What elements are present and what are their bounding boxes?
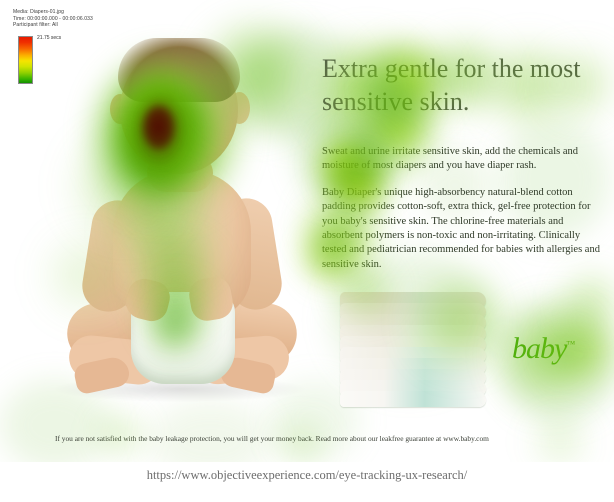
eye-tracking-heatmap-view: Extra gentle for the most sensitive skin… xyxy=(0,0,614,502)
ad-paragraph-1: Sweat and urine irritate sensitive skin,… xyxy=(322,145,606,174)
legend-color-scale xyxy=(18,36,33,84)
source-url-caption[interactable]: https://www.objectiveexperience.com/eye-… xyxy=(0,468,614,483)
stimulus-image[interactable]: Extra gentle for the most sensitive skin… xyxy=(0,0,614,462)
metadata-participant-line: Participant filter: All xyxy=(13,22,93,29)
baby-photo xyxy=(35,42,310,412)
brand-logo-text: baby xyxy=(512,332,566,365)
metadata-media-line: Media: Diapers-01.jpg xyxy=(13,9,93,16)
diaper-stack xyxy=(340,292,490,410)
trademark-icon: ™ xyxy=(566,339,574,349)
metadata-time-line: Time: 00:00:00.000 - 00:00:06.033 xyxy=(13,16,93,23)
heatmap-legend: 21.75 secs xyxy=(18,36,33,84)
ad-paragraph-2: Baby Diaper's unique high-absorbency nat… xyxy=(322,186,606,272)
ad-body-copy: Sweat and urine irritate sensitive skin,… xyxy=(322,145,606,284)
diaper-item xyxy=(340,391,486,407)
brand-logo: baby™ xyxy=(512,332,574,366)
ad-footer-text: If you are not satisfied with the baby l… xyxy=(55,434,575,444)
baby-hair xyxy=(118,38,240,102)
recording-metadata: Media: Diapers-01.jpg Time: 00:00:00.000… xyxy=(13,9,93,29)
ad-headline: Extra gentle for the most sensitive skin… xyxy=(322,52,598,118)
legend-max-label: 21.75 secs xyxy=(37,35,61,41)
